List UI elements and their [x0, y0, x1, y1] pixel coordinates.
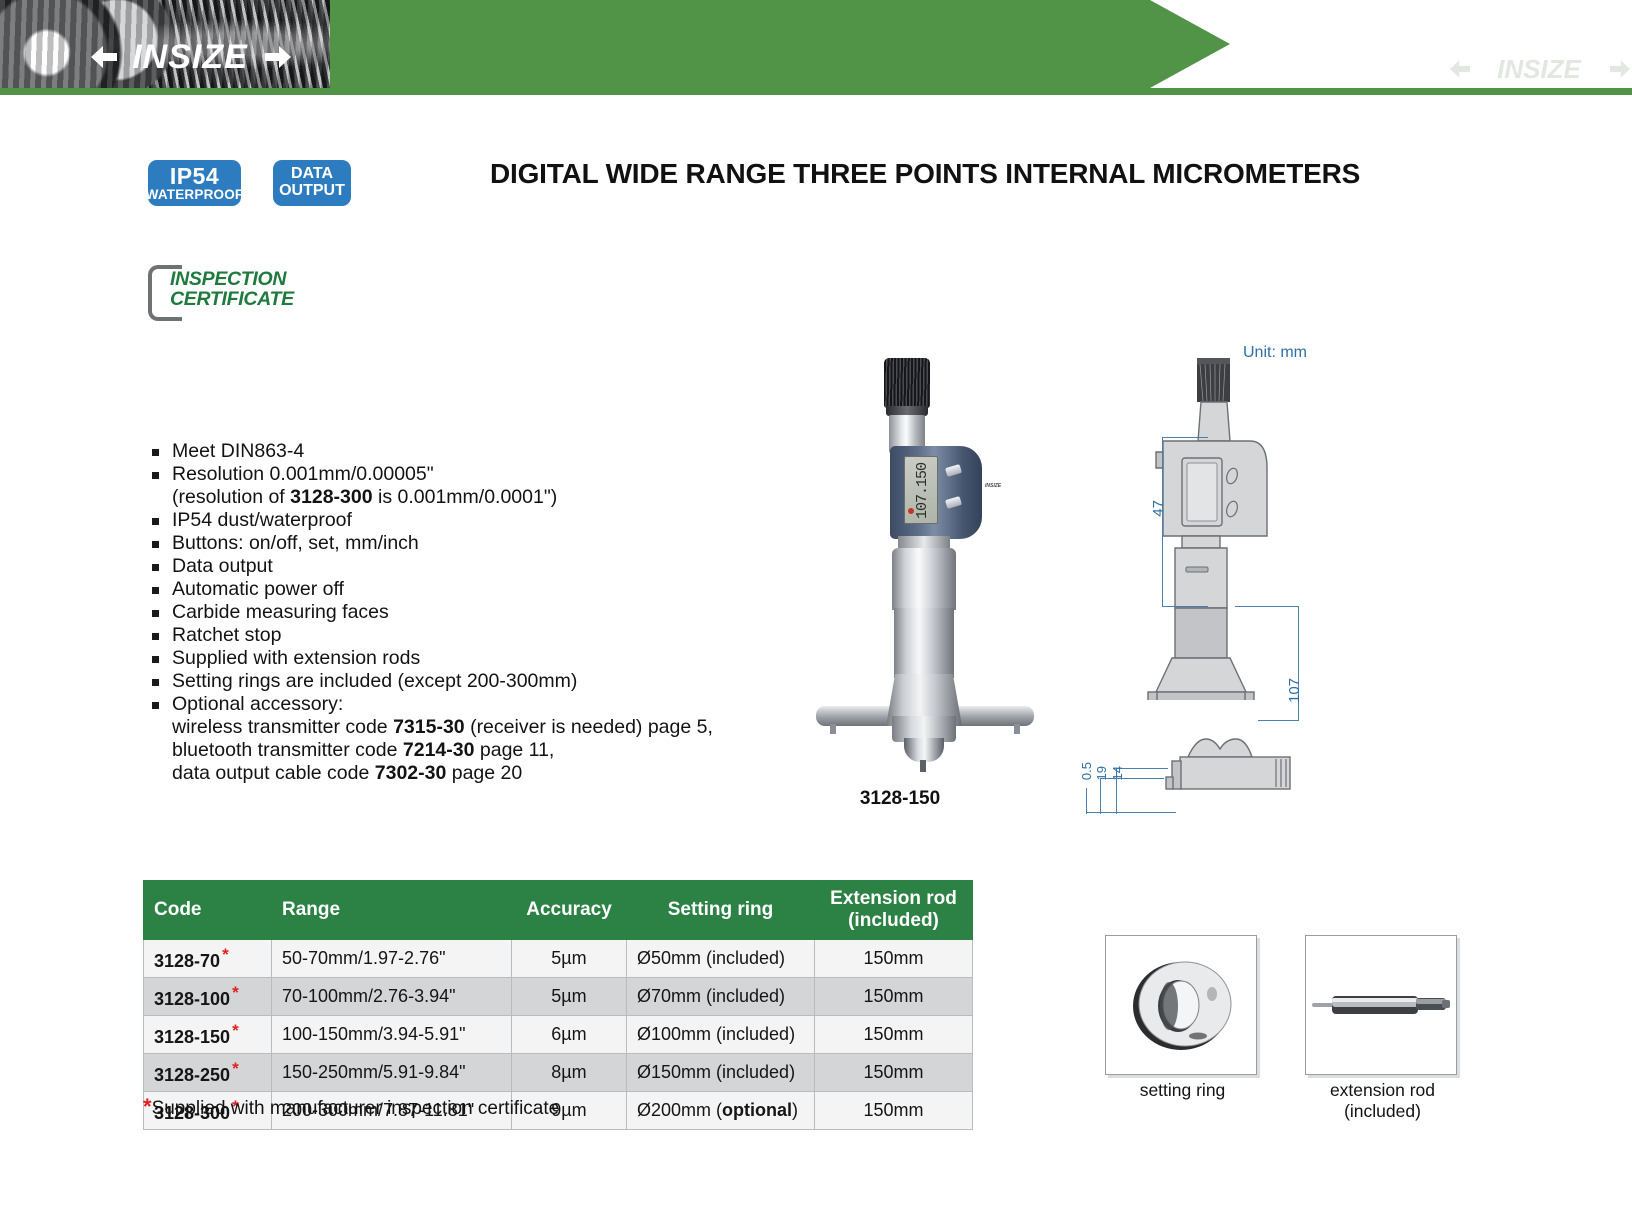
- header-green-rule: [0, 88, 1632, 95]
- bullet-icon: [152, 541, 159, 548]
- feature-list: Meet DIN863-4 Resolution 0.001mm/0.00005…: [148, 440, 798, 785]
- dim-bottom-baseline: [1086, 812, 1176, 813]
- feature-text: Buttons: on/off, set, mm/inch: [172, 532, 419, 554]
- table-row: 3128-150* 100-150mm/3.94-5.91" 6µm Ø100m…: [144, 1016, 973, 1054]
- cell-code: 3128-150*: [144, 1016, 272, 1054]
- watermark-right-arrow-icon: [1610, 57, 1630, 81]
- badge-ip54-waterproof: IP54 WATERPROOF: [148, 160, 241, 206]
- cell-extension-rod: 150mm: [815, 940, 973, 978]
- drawing-hub: [1156, 658, 1246, 692]
- insize-logo: INSIZE: [95, 36, 285, 78]
- insize-logo-text: INSIZE: [132, 38, 248, 77]
- dim47-line: [1162, 437, 1163, 607]
- opt-suffix: page 20: [446, 762, 522, 784]
- drawing-foot-right: [1245, 692, 1254, 700]
- table-row: 3128-70* 50-70mm/1.97-2.76" 5µm Ø50mm (i…: [144, 940, 973, 978]
- dim47-tick-bottom: [1162, 606, 1208, 607]
- bullet-icon: [152, 633, 159, 640]
- product-shaft-upper: [892, 548, 956, 610]
- feature-item: Ratchet stop: [148, 624, 798, 647]
- cell-setting-ring: Ø150mm (included): [627, 1054, 815, 1092]
- feature-item: Optional accessory:: [148, 693, 798, 716]
- feature-item: Setting rings are included (except 200-3…: [148, 670, 798, 693]
- page-title: DIGITAL WIDE RANGE THREE POINTS INTERNAL…: [490, 158, 1490, 190]
- cell-setting-ring: Ø50mm (included): [627, 940, 815, 978]
- product-indicator-dot: [908, 508, 914, 514]
- badge-data-output: DATA OUTPUT: [273, 160, 351, 206]
- asterisk-icon: *: [232, 983, 239, 1002]
- drawing-bottom-humps: [1188, 739, 1252, 757]
- drawing-neck: [1182, 536, 1220, 548]
- table-header-row: Code Range Accuracy Setting ring Extensi…: [144, 881, 973, 940]
- cell-accuracy: 8µm: [512, 1054, 627, 1092]
- certificate-line1: INSPECTION: [170, 269, 294, 289]
- drawing-bottom-step2: [1166, 777, 1173, 789]
- drawing-shaft-upper: [1175, 548, 1227, 608]
- optional-accessory-line: wireless transmitter code 7315-30 (recei…: [148, 716, 798, 739]
- column-header-rod-line1: Extension rod: [825, 888, 962, 910]
- opt-prefix: bluetooth transmitter code: [172, 739, 403, 761]
- bullet-icon: [152, 610, 159, 617]
- bullet-icon: [152, 679, 159, 686]
- feature-text: Carbide measuring faces: [172, 601, 389, 623]
- drawing-foot-left: [1148, 692, 1157, 700]
- watermark-left-arrow-icon: [1450, 57, 1470, 81]
- cell-range: 70-100mm/2.76-3.94": [272, 978, 512, 1016]
- dim-14-label: 14: [1110, 766, 1125, 780]
- drawing-lcd: [1187, 463, 1217, 521]
- technical-drawing-side-view: [1060, 340, 1390, 700]
- bullet-icon: [152, 564, 159, 571]
- product-tip: [920, 760, 926, 772]
- inspection-certificate-badge: INSPECTION CERTIFICATE: [148, 263, 333, 325]
- page-header: INSIZE INSIZE: [0, 0, 1632, 95]
- bullet-icon: [152, 587, 159, 594]
- technical-drawing-bottom-view: [1080, 725, 1310, 805]
- opt-code: 7302-30: [375, 762, 447, 784]
- opt-code: 7315-30: [393, 716, 465, 738]
- feature-text: Supplied with extension rods: [172, 647, 420, 669]
- cell-setting-ring: Ø200mm (optional): [627, 1092, 815, 1130]
- cell-extension-rod: 150mm: [815, 1054, 973, 1092]
- accessory-extension-rod-frame: [1305, 935, 1457, 1075]
- dim-19-label: 19: [1094, 766, 1109, 780]
- product-thimble: [884, 358, 930, 408]
- table-row: 3128-100* 70-100mm/2.76-3.94" 5µm Ø70mm …: [144, 978, 973, 1016]
- setting-ring-image: [1106, 936, 1256, 1074]
- opt-suffix: page 11,: [474, 739, 554, 761]
- extension-rod-caption-line1: extension rod: [1300, 1080, 1465, 1101]
- dim107-tick-bottom: [1258, 720, 1299, 721]
- product-photo-caption: 3128-150: [800, 788, 1000, 810]
- product-shaft-lower: [894, 608, 954, 678]
- drawing-sleeve: [1198, 402, 1230, 441]
- insize-watermark-logo: INSIZE: [1454, 52, 1624, 86]
- bullet-icon: [152, 449, 159, 456]
- table-row: 3128-250* 150-250mm/5.91-9.84" 8µm Ø150m…: [144, 1054, 973, 1092]
- opt-prefix: wireless transmitter code: [172, 716, 393, 738]
- dim-107-label: 107: [1286, 598, 1303, 703]
- feature-item: Carbide measuring faces: [148, 601, 798, 624]
- drawing-base-plate: [1156, 692, 1246, 700]
- badge-ip54-line1: IP54: [170, 164, 219, 188]
- badge-data-line2: OUTPUT: [279, 183, 345, 200]
- dim-05-label: 0.5: [1079, 762, 1094, 780]
- certificate-text: INSPECTION CERTIFICATE: [170, 269, 294, 309]
- bullet-icon: [152, 656, 159, 663]
- badge-ip54-line2: WATERPROOF: [146, 188, 244, 202]
- extension-rod-caption-line2: (included): [1300, 1101, 1465, 1122]
- dim19-line: [1100, 778, 1101, 814]
- optional-accessory-line: data output cable code 7302-30 page 20: [148, 762, 798, 785]
- product-arm-left: [816, 706, 896, 726]
- feature-subline-resolution: (resolution of 3128-300 is 0.001mm/0.000…: [148, 486, 798, 509]
- logo-right-arrow-icon: [265, 42, 291, 72]
- asterisk-icon: *: [232, 1059, 239, 1078]
- feature-item: Supplied with extension rods: [148, 647, 798, 670]
- feature-text: Data output: [172, 555, 273, 577]
- feature-item: Meet DIN863-4: [148, 440, 798, 463]
- product-foot-right: [1014, 724, 1020, 734]
- dim-47-label: 47: [1150, 500, 1167, 517]
- cell-accuracy: 5µm: [512, 940, 627, 978]
- feature-text: IP54 dust/waterproof: [172, 509, 352, 531]
- header-green-chevron: [330, 0, 1230, 88]
- accessory-setting-ring-caption: setting ring: [1100, 1080, 1265, 1101]
- asterisk-icon: *: [232, 1021, 239, 1040]
- feature-item: Data output: [148, 555, 798, 578]
- resolution-prefix: (resolution of: [172, 486, 290, 508]
- bullet-icon: [152, 702, 159, 709]
- column-header-setting-ring: Setting ring: [627, 881, 815, 940]
- accessory-setting-ring-frame: [1105, 935, 1257, 1075]
- logo-left-arrow-icon: [91, 42, 117, 72]
- product-photo-3128-150: INSIZE 107.150: [800, 358, 1000, 768]
- opt-prefix: data output cable code: [172, 762, 375, 784]
- column-header-accuracy: Accuracy: [512, 881, 627, 940]
- feature-item: Automatic power off: [148, 578, 798, 601]
- cell-extension-rod: 150mm: [815, 1016, 973, 1054]
- feature-text: Optional accessory:: [172, 693, 343, 715]
- accessory-extension-rod-caption: extension rod (included): [1300, 1080, 1465, 1122]
- dim05-line: [1086, 788, 1087, 814]
- feature-text: Resolution 0.001mm/0.00005": [172, 463, 434, 485]
- cell-range: 100-150mm/3.94-5.91": [272, 1016, 512, 1054]
- product-anvil: [904, 738, 944, 762]
- column-header-code: Code: [144, 881, 272, 940]
- bullet-icon: [152, 472, 159, 479]
- product-foot-left: [830, 724, 836, 734]
- extension-rod-image: [1306, 936, 1456, 1074]
- cell-code: 3128-250*: [144, 1054, 272, 1092]
- product-arm-right: [952, 706, 1034, 726]
- dim47-tick-top: [1162, 437, 1208, 438]
- bullet-icon: [152, 518, 159, 525]
- opt-suffix: (receiver is needed) page 5,: [465, 716, 713, 738]
- cell-range: 50-70mm/1.97-2.76": [272, 940, 512, 978]
- cell-accuracy: 5µm: [512, 978, 627, 1016]
- drawing-shaft-lower: [1175, 608, 1227, 658]
- resolution-suffix: is 0.001mm/0.0001"): [373, 486, 558, 508]
- badge-data-line1: DATA: [291, 166, 333, 183]
- asterisk-icon: *: [222, 945, 229, 964]
- column-header-range: Range: [272, 881, 512, 940]
- drawing-thimble: [1197, 358, 1230, 402]
- resolution-code: 3128-300: [290, 486, 372, 508]
- table-footnote: *Supplied with manufacturer inspection c…: [143, 1094, 559, 1120]
- certificate-line2: CERTIFICATE: [170, 289, 294, 309]
- drawing-bottom-body: [1180, 757, 1290, 789]
- footnote-text: Supplied with manufacturer inspection ce…: [152, 1098, 560, 1119]
- cell-range: 150-250mm/5.91-9.84": [272, 1054, 512, 1092]
- feature-item: IP54 dust/waterproof: [148, 509, 798, 532]
- cell-extension-rod: 150mm: [815, 1092, 973, 1130]
- feature-item: Resolution 0.001mm/0.00005": [148, 463, 798, 486]
- opt-code: 7214-30: [403, 739, 475, 761]
- column-header-rod-line2: (included): [825, 910, 962, 932]
- feature-text: Automatic power off: [172, 578, 344, 600]
- feature-text: Meet DIN863-4: [172, 440, 304, 462]
- cell-code: 3128-70*: [144, 940, 272, 978]
- cell-code: 3128-100*: [144, 978, 272, 1016]
- catalog-page: INSIZE INSIZE IP54 WATERPROOF DATA OUTPU…: [0, 0, 1632, 1219]
- product-brand-label: INSIZE: [985, 483, 1001, 489]
- cell-setting-ring: Ø100mm (included): [627, 1016, 815, 1054]
- feature-item: Buttons: on/off, set, mm/inch: [148, 532, 798, 555]
- cell-accuracy: 6µm: [512, 1016, 627, 1054]
- drawing-shaft-slot: [1186, 567, 1208, 572]
- optional-accessory-line: bluetooth transmitter code 7214-30 page …: [148, 739, 798, 762]
- feature-text: Ratchet stop: [172, 624, 281, 646]
- cell-extension-rod: 150mm: [815, 978, 973, 1016]
- specification-table: Code Range Accuracy Setting ring Extensi…: [143, 880, 973, 1130]
- cell-setting-ring: Ø70mm (included): [627, 978, 815, 1016]
- footnote-asterisk-icon: *: [143, 1094, 152, 1119]
- insize-watermark-text: INSIZE: [1497, 54, 1581, 85]
- feature-text: Setting rings are included (except 200-3…: [172, 670, 577, 692]
- column-header-extension-rod: Extension rod (included): [815, 881, 973, 940]
